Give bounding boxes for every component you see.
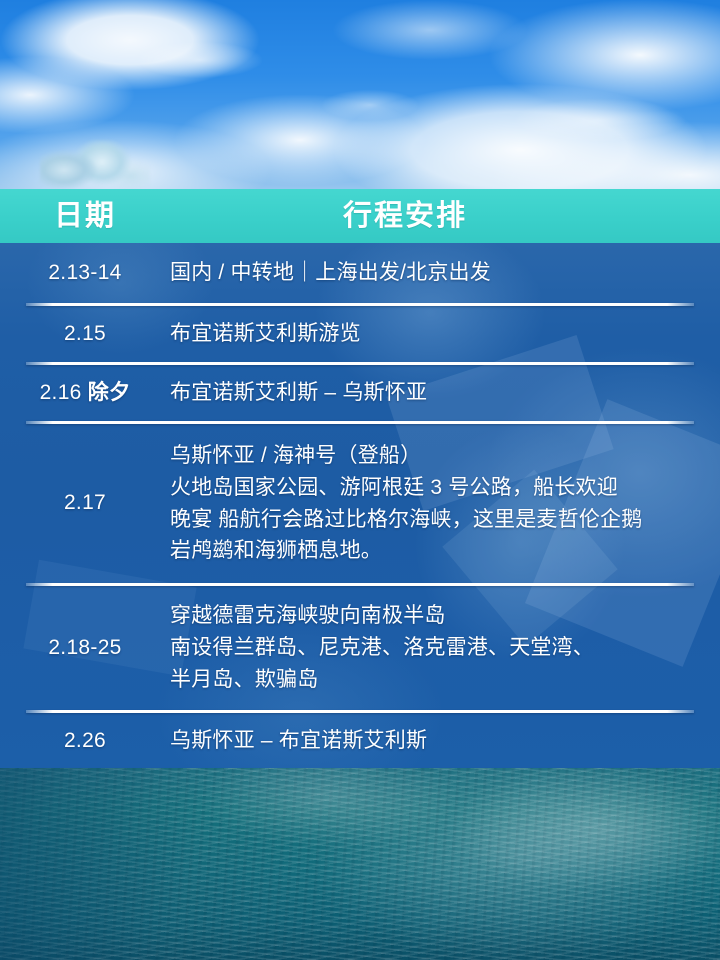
row-date-text: 2.17 [64,491,106,514]
ocean-background-image [0,768,720,960]
row-plan: 布宜诺斯艾利斯游览 [170,318,720,350]
row-plan: 穿越德雷克海峡驶向南极半岛 南设得兰群岛、尼克港、洛克雷港、天堂湾、 半月岛、欺… [170,600,720,696]
sky-background-image [0,0,720,192]
row-date-text: 2.18-25 [48,636,121,659]
table-row: 2.13-14 国内 / 中转地｜上海出发/北京出发 [0,243,720,303]
itinerary-table-body: 2.13-14 国内 / 中转地｜上海出发/北京出发 2.15 布宜诺斯艾利斯游… [0,243,720,768]
itinerary-rows: 2.13-14 国内 / 中转地｜上海出发/北京出发 2.15 布宜诺斯艾利斯游… [0,243,720,768]
iceberg-image [40,140,150,192]
row-date-highlight: 除夕 [88,381,131,404]
water-deep-shadow [0,768,210,960]
row-date-text: 2.13-14 [48,261,121,284]
row-plan: 布宜诺斯艾利斯 – 乌斯怀亚 [170,377,720,409]
row-plan: 乌斯怀亚 – 布宜诺斯艾利斯 [170,725,720,757]
table-header-row: 日期 行程安排 [0,189,720,243]
row-date: 2.18-25 [0,635,170,661]
row-date: 2.17 [0,490,170,516]
row-date: 2.15 [0,321,170,347]
column-header-plan: 行程安排 [170,202,720,231]
table-row: 2.17 乌斯怀亚 / 海神号（登船） 火地岛国家公园、游阿根廷 3 号公路，船… [0,424,720,584]
row-plan: 乌斯怀亚 / 海神号（登船） 火地岛国家公园、游阿根廷 3 号公路，船长欢迎 晚… [170,440,720,568]
row-date: 2.26 [0,728,170,754]
row-date-text: 2.16 [40,381,88,404]
itinerary-poster: 日期 行程安排 2.13-14 国内 / 中转地｜上海出发/北京出发 2.15 … [0,0,720,960]
row-plan: 国内 / 中转地｜上海出发/北京出发 [170,257,720,289]
row-date: 2.13-14 [0,260,170,286]
column-header-date: 日期 [0,202,170,231]
table-row: 2.26 乌斯怀亚 – 布宜诺斯艾利斯 [0,713,720,768]
row-date-text: 2.26 [64,729,106,752]
row-date-text: 2.15 [64,322,106,345]
row-date: 2.16 除夕 [0,380,170,406]
table-row: 2.15 布宜诺斯艾利斯游览 [0,306,720,362]
table-row: 2.18-25 穿越德雷克海峡驶向南极半岛 南设得兰群岛、尼克港、洛克雷港、天堂… [0,586,720,710]
table-row: 2.16 除夕 布宜诺斯艾利斯 – 乌斯怀亚 [0,365,720,421]
